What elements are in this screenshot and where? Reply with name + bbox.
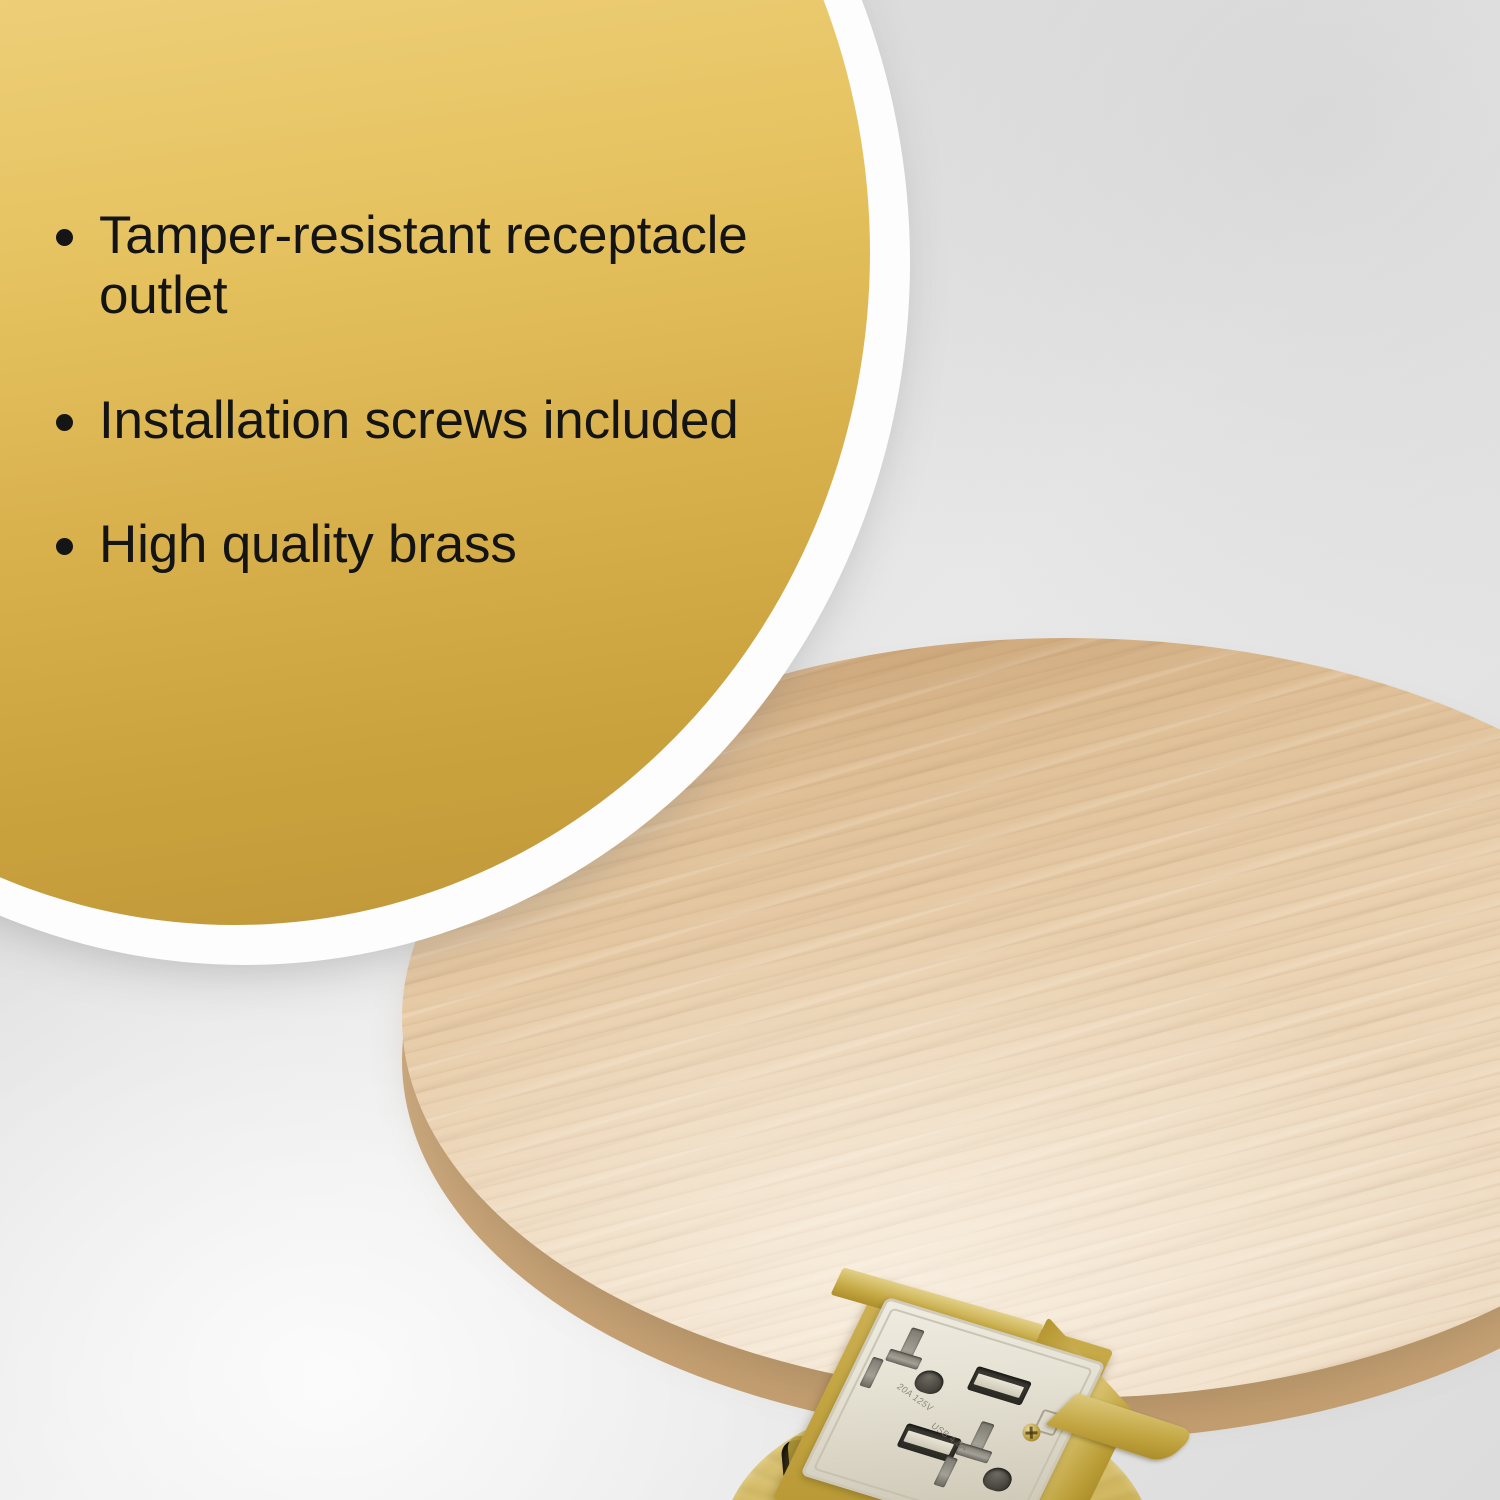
list-item: High quality brass [56, 515, 796, 575]
bullet-dot-icon [56, 538, 73, 555]
product-feature-image: 20A 125V USB 4.8A Tamper-resistant recep… [0, 0, 1500, 1500]
outlet-popup-lid[interactable]: 20A 125V USB 4.8A [817, 1279, 1098, 1500]
list-item: Tamper-resistant receptacle outlet [56, 206, 796, 327]
bullet-text: Tamper-resistant receptacle outlet [99, 206, 796, 327]
bullet-text: High quality brass [99, 515, 517, 575]
feature-bullet-list: Tamper-resistant receptacle outlet Insta… [56, 206, 796, 640]
bullet-dot-icon [56, 229, 73, 246]
list-item: Installation screws included [56, 391, 796, 451]
bullet-dot-icon [56, 414, 73, 431]
brass-floor-outlet[interactable]: 20A 125V USB 4.8A [700, 1260, 1180, 1500]
bullet-text: Installation screws included [99, 391, 739, 451]
